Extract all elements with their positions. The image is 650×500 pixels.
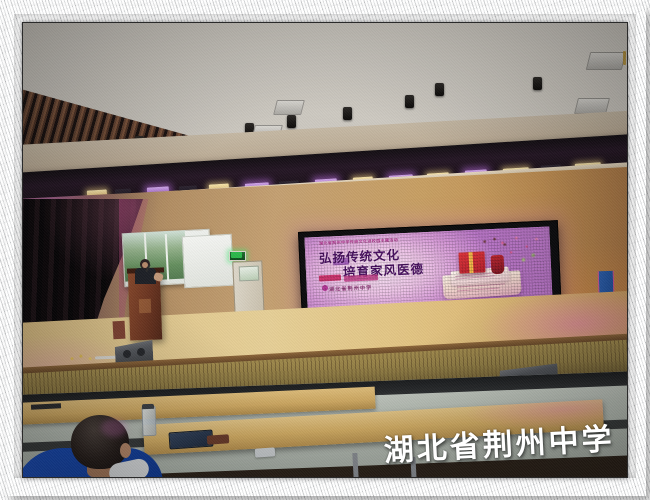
ceiling-spotlight [343, 107, 352, 120]
head-highlight [101, 419, 127, 437]
water-bottle [141, 406, 156, 436]
bottle-cap [142, 404, 154, 409]
exit-sign-glow [231, 252, 242, 258]
mobile-phone [207, 434, 230, 445]
ceiling-air-vent [273, 100, 305, 115]
photograph: 湖北省荆州中学传统文化进校园主题活动 弘扬传统文化 培育家风医德 湖北省荆州中学 [22, 22, 628, 478]
seated-attendee-ear [120, 443, 131, 458]
ceiling-hanger [623, 51, 626, 65]
led-artwork-plum-blossom [492, 233, 546, 270]
mobile-phone [255, 447, 276, 457]
podium-emblem [139, 299, 151, 313]
stage-chair [113, 321, 126, 340]
ceiling-spotlight [405, 95, 414, 108]
ceiling-air-vent [586, 52, 626, 70]
ceiling-spotlight [533, 77, 542, 90]
door-window [239, 266, 260, 282]
photo-canvas: 湖北省荆州中学传统文化进校园主题活动 弘扬传统文化 培育家风医德 湖北省荆州中学 [23, 23, 627, 477]
projection-screen-panel [182, 234, 235, 289]
ceiling-spotlight [435, 83, 444, 96]
ceiling-spotlight [287, 115, 296, 128]
led-tag-left [319, 275, 341, 282]
